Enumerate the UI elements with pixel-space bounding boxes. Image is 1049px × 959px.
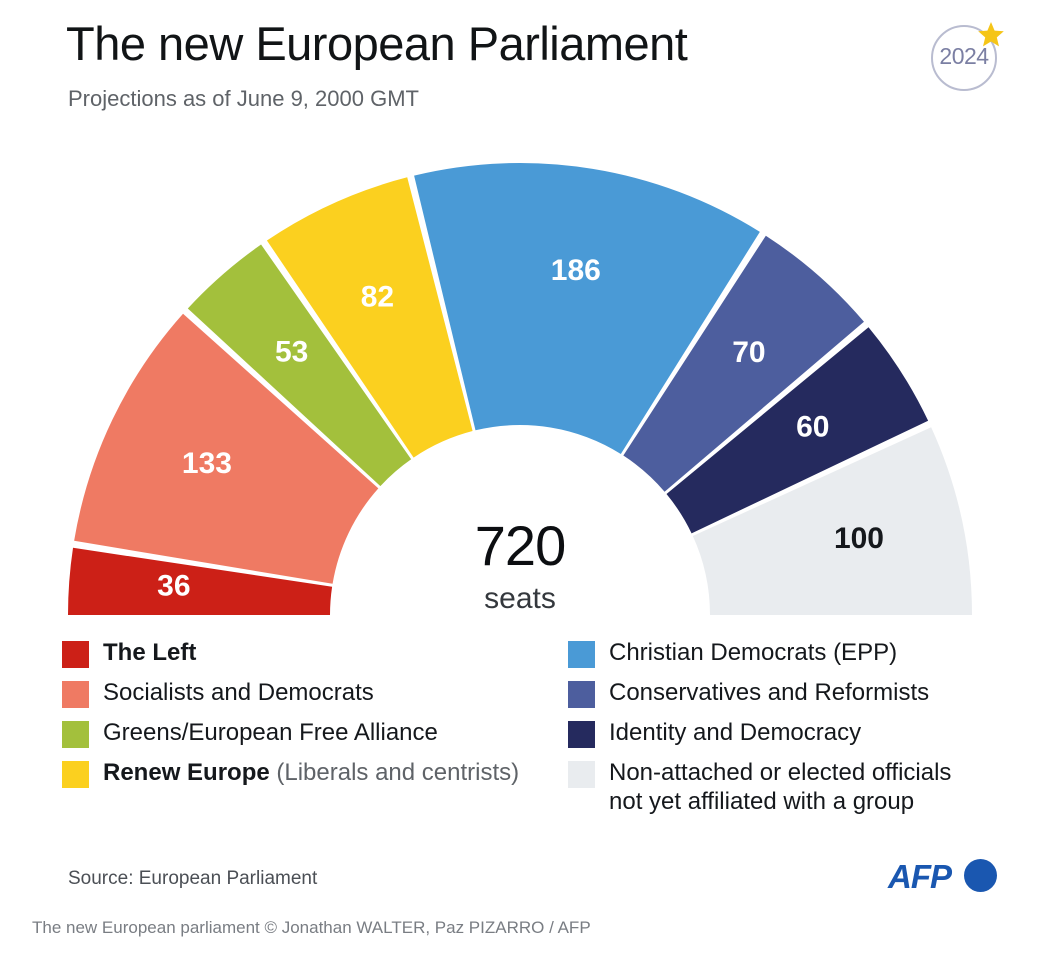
slice-value-label: 70 [732,336,765,369]
legend: The LeftSocialists and DemocratsGreens/E… [20,638,1029,853]
legend-swatch [568,721,595,748]
year-badge: 2024 [928,18,1008,98]
legend-label: Conservatives and Reformists [609,678,929,707]
legend-label-main: Non-attached or elected officials [609,759,951,786]
afp-logo: AFP [888,856,1008,898]
legend-label: Identity and Democracy [609,718,861,747]
legend-item-left-1[interactable]: Socialists and Democrats [62,678,582,708]
legend-label: Christian Democrats (EPP) [609,638,897,667]
legend-label-main: The Left [103,639,196,666]
legend-column-right: Christian Democrats (EPP)Conservatives a… [568,638,1028,827]
legend-label-main: Conservatives and Reformists [609,679,929,706]
slice-value-label: 100 [834,522,884,555]
legend-column-left: The LeftSocialists and DemocratsGreens/E… [62,638,582,798]
legend-label: Socialists and Democrats [103,678,374,707]
legend-swatch [568,681,595,708]
star-icon [976,20,1006,50]
legend-swatch [568,641,595,668]
chart-svg: 3613353821867060100 720 seats [20,130,1029,635]
legend-label-main: Christian Democrats (EPP) [609,639,897,666]
legend-item-left-2[interactable]: Greens/European Free Alliance [62,718,582,748]
image-caption: The new European parliament © Jonathan W… [32,918,591,938]
infographic-card: The new European Parliament Projections … [20,0,1029,900]
legend-swatch [62,641,89,668]
legend-swatch [62,761,89,788]
legend-item-left-3[interactable]: Renew Europe (Liberals and centrists) [62,758,582,788]
legend-item-right-0[interactable]: Christian Democrats (EPP) [568,638,1028,668]
legend-label-main: Identity and Democracy [609,719,861,746]
legend-item-left-0[interactable]: The Left [62,638,582,668]
source-note: Source: European Parliament [68,868,317,890]
legend-label-line2: not yet affiliated with a group [609,788,914,815]
legend-swatch [62,721,89,748]
legend-label-main: Socialists and Democrats [103,679,374,706]
slice-value-label: 186 [551,254,601,287]
slice-value-label: 53 [275,335,308,368]
legend-item-right-3[interactable]: Non-attached or elected officialsnot yet… [568,758,1028,817]
slice-value-label: 60 [796,410,829,443]
legend-label-main: Renew Europe [103,759,270,786]
page-title: The new European Parliament [66,18,687,70]
legend-swatch [62,681,89,708]
legend-item-right-2[interactable]: Identity and Democracy [568,718,1028,748]
infographic-page: The new European Parliament Projections … [0,0,1049,959]
legend-label: Greens/European Free Alliance [103,718,438,747]
slice-value-label: 82 [361,280,394,313]
center-total-unit: seats [484,582,556,615]
center-total-value: 720 [475,514,565,577]
slice-value-label: 36 [157,570,190,603]
legend-swatch [568,761,595,788]
legend-label-sub: (Liberals and centrists) [270,759,519,786]
page-subtitle: Projections as of June 9, 2000 GMT [68,86,419,112]
legend-label: Non-attached or elected officialsnot yet… [609,758,951,817]
circle-icon [964,859,997,892]
parliament-semicircle-chart: 3613353821867060100 720 seats [20,130,1029,635]
slice-value-label: 133 [182,447,232,480]
legend-item-right-1[interactable]: Conservatives and Reformists [568,678,1028,708]
legend-label-main: Greens/European Free Alliance [103,719,438,746]
afp-wordmark: AFP [888,858,951,896]
legend-label: Renew Europe (Liberals and centrists) [103,758,519,787]
legend-label: The Left [103,638,196,667]
